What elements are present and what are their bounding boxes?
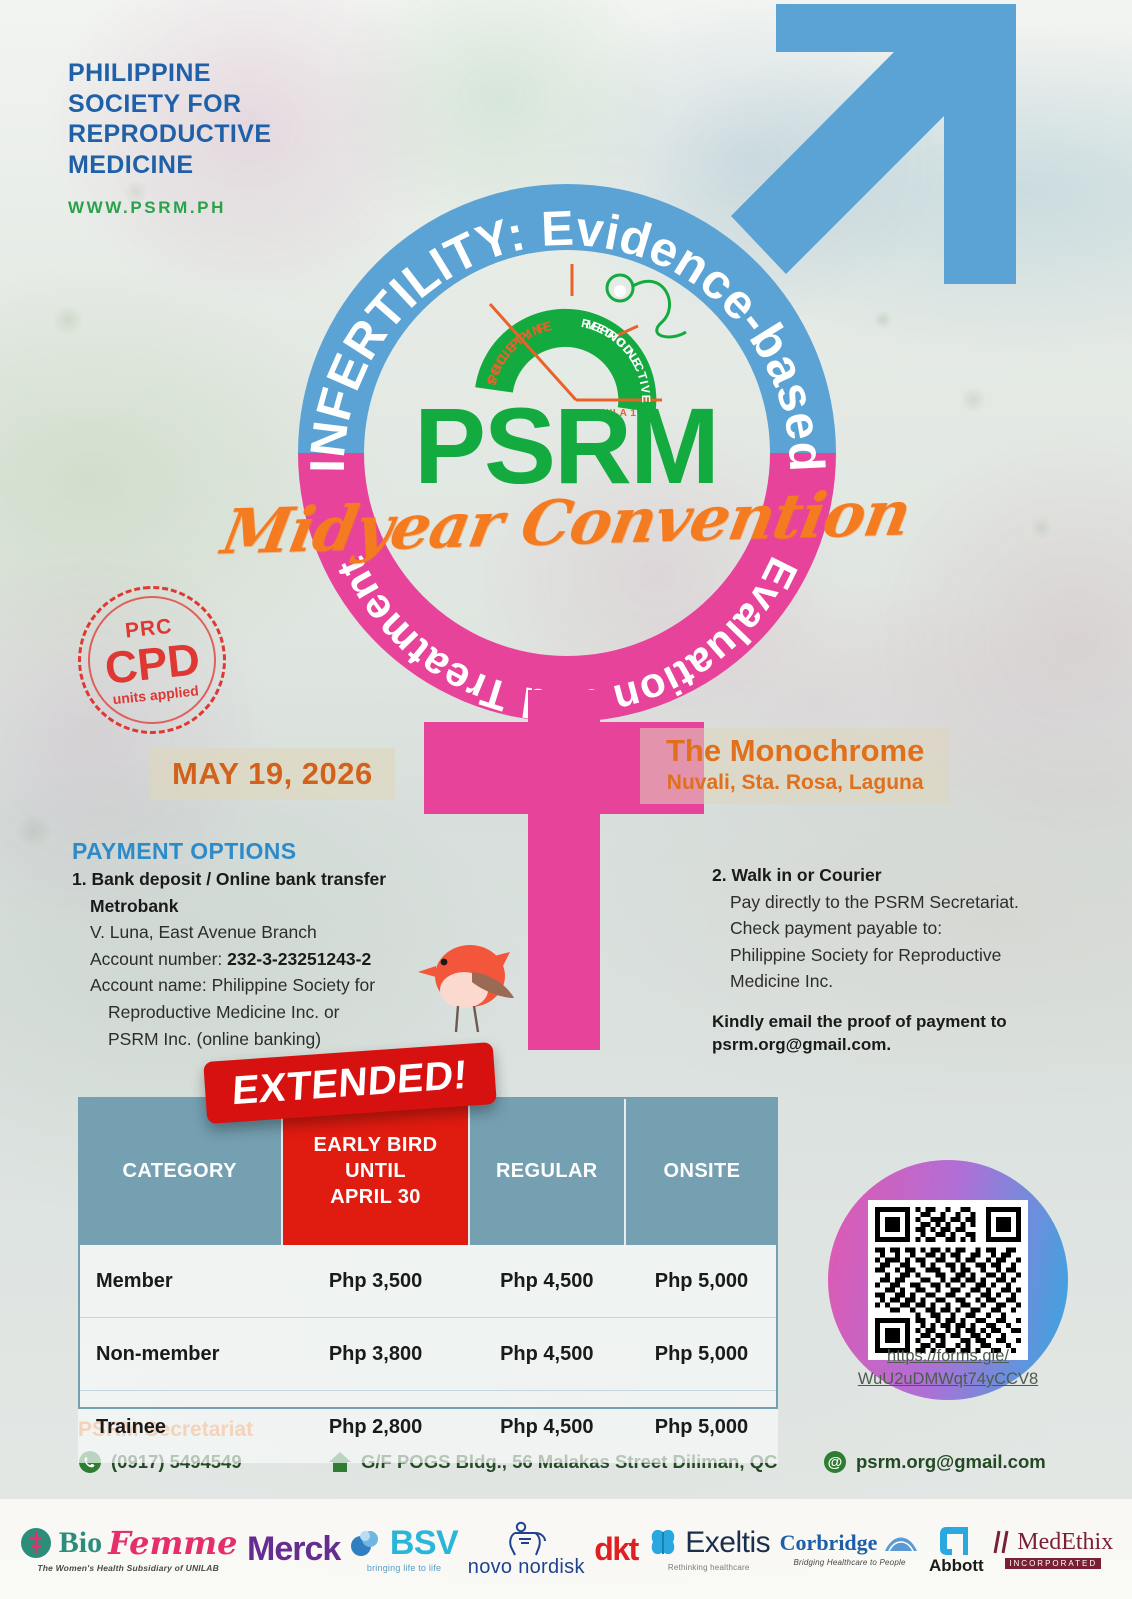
sponsor-novo-nordisk-label: novo nordisk bbox=[468, 1557, 585, 1577]
early-bird-line-2: UNTIL bbox=[289, 1158, 461, 1184]
secretariat-email[interactable]: @ psrm.org@gmail.com bbox=[823, 1450, 1046, 1474]
table-row: Trainee Php 2,800 Php 4,500 Php 5,000 bbox=[78, 1391, 778, 1464]
pricing-table-header-row: CATEGORY EARLY BIRD UNTIL APRIL 30 REGUL… bbox=[78, 1097, 778, 1245]
poster-canvas: INFERTILITY: Evidence-based Evaluation a… bbox=[0, 0, 1132, 1599]
table-row: Non-member Php 3,800 Php 4,500 Php 5,000 bbox=[78, 1318, 778, 1391]
venue-location: Nuvali, Sta. Rosa, Laguna bbox=[666, 770, 924, 795]
registration-link-line-1: https://forms.gle/ bbox=[887, 1347, 1009, 1365]
payment-option-2-title: 2. Walk in or Courier bbox=[712, 865, 882, 885]
svg-text:@: @ bbox=[828, 1454, 843, 1471]
pricing-table: CATEGORY EARLY BIRD UNTIL APRIL 30 REGUL… bbox=[78, 1097, 778, 1463]
row-onsite-price: Php 5,000 bbox=[625, 1391, 778, 1464]
sponsor-dkt: dkt bbox=[594, 1533, 638, 1565]
payment-option-2-line-2: Check payment payable to: bbox=[712, 915, 1072, 942]
sponsor-bio-femme-part2: Femme bbox=[108, 1527, 237, 1559]
cpd-units-label: units applied bbox=[112, 683, 199, 706]
account-number-label: Account number: bbox=[90, 949, 222, 969]
row-early-price: Php 3,500 bbox=[282, 1245, 468, 1318]
event-date: MAY 19, 2026 bbox=[172, 756, 373, 791]
payment-option-2-line-1: Pay directly to the PSRM Secretariat. bbox=[712, 889, 1072, 916]
row-category: Trainee bbox=[78, 1391, 282, 1464]
sponsor-medethix-tagline: INCORPORATED bbox=[1005, 1558, 1101, 1569]
early-bird-line-1: EARLY BIRD bbox=[289, 1132, 461, 1158]
payment-bank-name: Metrobank bbox=[72, 893, 472, 920]
sponsor-corbridge-label: Corbridge bbox=[780, 1532, 878, 1554]
payment-option-2: 2. Walk in or Courier Pay directly to th… bbox=[712, 862, 1072, 1057]
payment-option-2-line-3: Philippine Society for Reproductive bbox=[712, 942, 1072, 969]
payment-options-heading: PAYMENT OPTIONS bbox=[72, 838, 297, 865]
org-line-3: REPRODUCTIVE bbox=[68, 119, 271, 150]
abbott-logo-icon bbox=[938, 1525, 974, 1557]
sponsor-exeltis: Exeltis Rethinking healthcare bbox=[647, 1526, 770, 1572]
cpd-label: CPD bbox=[103, 636, 202, 691]
event-date-band: MAY 19, 2026 bbox=[150, 748, 395, 800]
row-category: Non-member bbox=[78, 1318, 282, 1391]
website-url[interactable]: WWW.PSRM.PH bbox=[68, 198, 226, 218]
organization-name: PHILIPPINE SOCIETY FOR REPRODUCTIVE MEDI… bbox=[68, 58, 271, 180]
account-name-label: Account name: bbox=[90, 975, 207, 995]
early-bird-line-3: APRIL 30 bbox=[289, 1184, 461, 1210]
pricing-header-onsite: ONSITE bbox=[625, 1097, 778, 1245]
event-venue-band: The Monochrome Nuvali, Sta. Rosa, Laguna bbox=[640, 728, 950, 804]
table-row: Member Php 3,500 Php 4,500 Php 5,000 bbox=[78, 1245, 778, 1318]
org-line-2: SOCIETY FOR bbox=[68, 89, 271, 120]
account-number-value: 232-3-23251243-2 bbox=[227, 949, 371, 969]
sponsor-novo-nordisk: novo nordisk bbox=[468, 1521, 585, 1577]
sponsor-corbridge-tagline: Bridging Healthcare to People bbox=[794, 1558, 906, 1567]
row-onsite-price: Php 5,000 bbox=[625, 1245, 778, 1318]
registration-link-line-2: WuU2uDMWqt74yCCV8 bbox=[858, 1370, 1038, 1388]
row-category: Member bbox=[78, 1245, 282, 1318]
email-at-icon: @ bbox=[823, 1450, 847, 1474]
payment-proof-note-line-1: Kindly email the proof of payment to bbox=[712, 1011, 1072, 1034]
row-regular-price: Php 4,500 bbox=[469, 1391, 625, 1464]
qr-code-icon[interactable] bbox=[868, 1200, 1028, 1360]
payment-option-2-line-4: Medicine Inc. bbox=[712, 968, 1072, 995]
payment-account-name-row: Account name: Philippine Society for bbox=[72, 972, 472, 999]
script-title-text: Midyear Convention bbox=[216, 476, 916, 568]
robin-bird-illustration bbox=[414, 928, 526, 1036]
payment-proof-note: Kindly email the proof of payment to psr… bbox=[712, 1011, 1072, 1057]
novo-nordisk-bull-icon bbox=[505, 1521, 547, 1557]
bsv-logo-icon bbox=[350, 1528, 384, 1558]
sponsor-medethix-label: MedEthix bbox=[1017, 1530, 1113, 1554]
sponsor-bsv-tagline: bringing life to life bbox=[367, 1563, 441, 1573]
brand-wordmark: PSRM bbox=[0, 392, 1132, 500]
sponsor-bsv-label: BSV bbox=[390, 1526, 458, 1560]
org-line-1: PHILIPPINE bbox=[68, 58, 271, 89]
sponsor-bio-femme: Bio Femme The Women's Health Subsidiary … bbox=[19, 1526, 238, 1573]
sponsor-abbott-label: Abbott bbox=[929, 1557, 984, 1574]
payment-option-1-title: 1. Bank deposit / Online bank transfer bbox=[72, 869, 386, 889]
extended-badge-label: EXTENDED! bbox=[231, 1052, 468, 1114]
cpd-prc-label: PRC bbox=[124, 616, 173, 642]
payment-account-number-row: Account number: 232-3-23251243-2 bbox=[72, 946, 472, 973]
row-regular-price: Php 4,500 bbox=[469, 1318, 625, 1391]
bio-femme-logo-icon bbox=[19, 1526, 53, 1560]
payment-proof-note-line-2: psrm.org@gmail.com. bbox=[712, 1034, 1072, 1057]
row-early-price: Php 2,800 bbox=[282, 1391, 468, 1464]
sponsor-dkt-label: dkt bbox=[594, 1533, 638, 1565]
corbridge-bridge-icon bbox=[883, 1531, 919, 1555]
sponsor-bio-femme-tagline: The Women's Health Subsidiary of UNILAB bbox=[37, 1563, 219, 1573]
sponsor-merck: Merck bbox=[247, 1532, 340, 1566]
sponsor-bar: Bio Femme The Women's Health Subsidiary … bbox=[0, 1499, 1132, 1599]
pricing-header-early-bird: EARLY BIRD UNTIL APRIL 30 bbox=[282, 1097, 468, 1245]
sponsor-bsv: BSV bringing life to life bbox=[350, 1526, 458, 1573]
medethix-slash-icon bbox=[993, 1529, 1011, 1555]
row-early-price: Php 3,800 bbox=[282, 1318, 468, 1391]
account-name-line-1: Philippine Society for bbox=[212, 975, 375, 995]
account-name-line-2: Reproductive Medicine Inc. or bbox=[72, 999, 472, 1026]
sponsor-corbridge: Corbridge Bridging Healthcare to People bbox=[780, 1531, 920, 1567]
sponsor-exeltis-label: Exeltis bbox=[685, 1528, 770, 1558]
payment-option-1: 1. Bank deposit / Online bank transfer M… bbox=[72, 866, 472, 1052]
sponsor-exeltis-tagline: Rethinking healthcare bbox=[668, 1563, 750, 1572]
org-line-4: MEDICINE bbox=[68, 150, 271, 181]
sponsor-merck-label: Merck bbox=[247, 1532, 340, 1566]
secretariat-email-text: psrm.org@gmail.com bbox=[856, 1451, 1046, 1473]
sponsor-bio-femme-part1: Bio bbox=[59, 1528, 102, 1558]
exeltis-butterfly-icon bbox=[647, 1526, 679, 1560]
pricing-header-regular: REGULAR bbox=[469, 1097, 625, 1245]
sponsor-medethix: MedEthix INCORPORATED bbox=[993, 1529, 1113, 1569]
registration-link[interactable]: https://forms.gle/ WuU2uDMWqt74yCCV8 bbox=[828, 1345, 1068, 1391]
row-regular-price: Php 4,500 bbox=[469, 1245, 625, 1318]
venue-name: The Monochrome bbox=[666, 734, 924, 768]
script-title: Midyear Convention bbox=[0, 486, 1132, 559]
sponsor-abbott: Abbott bbox=[929, 1525, 984, 1574]
row-onsite-price: Php 5,000 bbox=[625, 1318, 778, 1391]
payment-branch: V. Luna, East Avenue Branch bbox=[72, 919, 472, 946]
